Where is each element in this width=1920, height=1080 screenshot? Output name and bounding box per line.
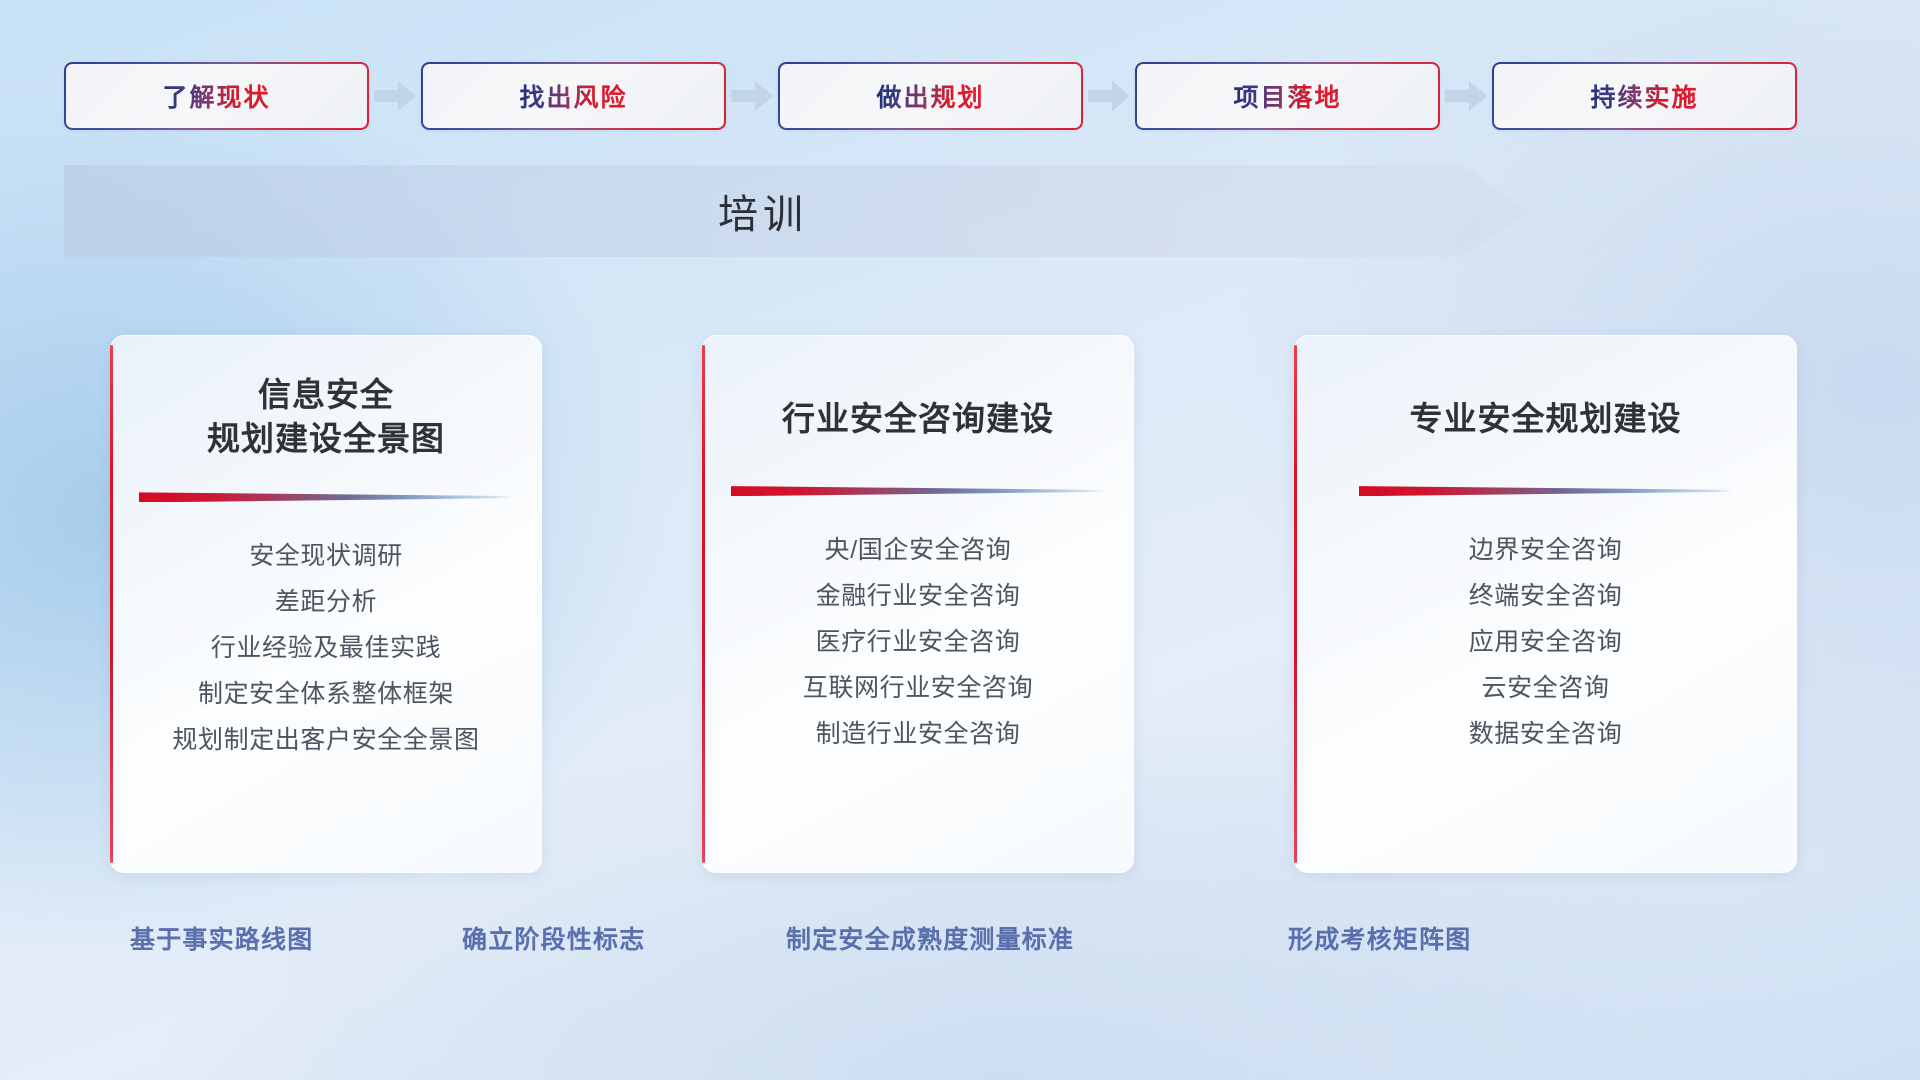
card-1-title-line2: 规划建设全景图 — [207, 420, 445, 457]
list-item: 数据安全咨询 — [1294, 712, 1797, 758]
list-item: 互联网行业安全咨询 — [702, 666, 1134, 712]
card-2[interactable]: 行业安全咨询建设 央/国企安全咨询 金融行业安全咨询 医疗行业安全咨询 互联网行… — [702, 335, 1134, 873]
step-box-5[interactable]: 持续实施 — [1492, 62, 1797, 130]
step-label-5: 持续实施 — [1590, 78, 1698, 114]
card-slot-1: 信息安全 规划建设全景图 安全现状调研 差距分析 行业经验及最佳实践 制定安全体… — [110, 335, 640, 873]
list-item: 差距分析 — [110, 580, 542, 626]
list-item: 行业经验及最佳实践 — [110, 626, 542, 672]
card-3-title-line1: 专业安全规划建设 — [1410, 400, 1682, 437]
step-label-2: 找出风险 — [519, 78, 627, 114]
step-arrow-1 — [369, 62, 421, 130]
step-box-4[interactable]: 项目落地 — [1135, 62, 1440, 130]
card-1-title-line1: 信息安全 — [258, 376, 394, 413]
list-item: 云安全咨询 — [1294, 666, 1797, 712]
step-arrow-4 — [1440, 62, 1492, 130]
card-2-title-line1: 行业安全咨询建设 — [782, 400, 1054, 437]
card-1[interactable]: 信息安全 规划建设全景图 安全现状调研 差距分析 行业经验及最佳实践 制定安全体… — [110, 335, 542, 873]
bottom-label-2: 确立阶段性标志 — [462, 920, 645, 956]
bottom-label-1: 基于事实路线图 — [130, 920, 313, 956]
list-item: 制定安全体系整体框架 — [110, 672, 542, 718]
card-3[interactable]: 专业安全规划建设 边界安全咨询 终端安全咨询 应用安全咨询 云安全咨询 数据安全… — [1294, 335, 1797, 873]
step-label-4: 项目落地 — [1233, 78, 1341, 114]
bottom-label-row: 基于事实路线图 确立阶段性标志 制定安全成熟度测量标准 形成考核矩阵图 — [0, 920, 1920, 970]
list-item: 边界安全咨询 — [1294, 528, 1797, 574]
list-item: 终端安全咨询 — [1294, 574, 1797, 620]
step-arrow-2 — [726, 62, 778, 130]
banner-title: 培训 — [64, 165, 1462, 257]
card-slot-2: 行业安全咨询建设 央/国企安全咨询 金融行业安全咨询 医疗行业安全咨询 互联网行… — [702, 335, 1232, 873]
card-1-title: 信息安全 规划建设全景图 — [110, 335, 542, 461]
step-box-2[interactable]: 找出风险 — [421, 62, 726, 130]
step-box-3[interactable]: 做出规划 — [778, 62, 1083, 130]
card-1-list: 安全现状调研 差距分析 行业经验及最佳实践 制定安全体系整体框架 规划制定出客户… — [110, 502, 542, 764]
card-2-list: 央/国企安全咨询 金融行业安全咨询 医疗行业安全咨询 互联网行业安全咨询 制造行… — [702, 496, 1134, 758]
list-item: 规划制定出客户安全全景图 — [110, 718, 542, 764]
card-2-divider — [731, 485, 1105, 496]
card-3-divider — [1359, 485, 1733, 496]
list-item: 医疗行业安全咨询 — [702, 620, 1134, 666]
card-3-list: 边界安全咨询 终端安全咨询 应用安全咨询 云安全咨询 数据安全咨询 — [1294, 496, 1797, 758]
list-item: 制造行业安全咨询 — [702, 712, 1134, 758]
bottom-label-4: 形成考核矩阵图 — [1288, 920, 1471, 956]
card-slot-3: 专业安全规划建设 边界安全咨询 终端安全咨询 应用安全咨询 云安全咨询 数据安全… — [1294, 335, 1898, 873]
list-item: 央/国企安全咨询 — [702, 528, 1134, 574]
bottom-label-3: 制定安全成熟度测量标准 — [786, 920, 1074, 956]
list-item: 金融行业安全咨询 — [702, 574, 1134, 620]
training-banner: 培训 — [64, 165, 1530, 257]
list-item: 安全现状调研 — [110, 534, 542, 580]
process-step-row: 了解现状 找出风险 做出规划 项目落地 — [64, 62, 1797, 130]
card-1-divider — [139, 491, 513, 502]
step-label-1: 了解现状 — [162, 78, 270, 114]
card-row: 信息安全 规划建设全景图 安全现状调研 差距分析 行业经验及最佳实践 制定安全体… — [0, 335, 1920, 873]
diagram-canvas: 了解现状 找出风险 做出规划 项目落地 — [0, 0, 1920, 1080]
step-arrow-3 — [1083, 62, 1135, 130]
card-3-title: 专业安全规划建设 — [1294, 335, 1797, 441]
step-label-3: 做出规划 — [876, 78, 984, 114]
step-box-1[interactable]: 了解现状 — [64, 62, 369, 130]
card-2-title: 行业安全咨询建设 — [702, 335, 1134, 441]
list-item: 应用安全咨询 — [1294, 620, 1797, 666]
